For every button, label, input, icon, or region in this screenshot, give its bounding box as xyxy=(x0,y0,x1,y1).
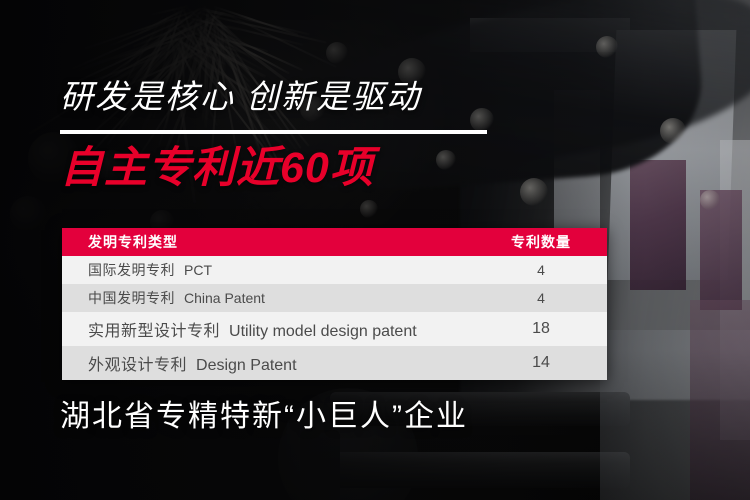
poster-content: 研发是核心 创新是驱动 自主专利近60项 发明专利类型 专利数量 国际发明专利P… xyxy=(0,0,750,500)
page-footer-text: 湖北省专精特新“小巨人”企业 xyxy=(60,402,468,432)
cell-patent-type-en: Utility model design patent xyxy=(229,323,417,340)
cell-patent-type-cn: 国际发明专利 xyxy=(88,262,175,278)
table-row: 实用新型设计专利Utility model design patent18 xyxy=(62,312,607,346)
cell-patent-type-en: Design Patent xyxy=(196,357,297,374)
cell-patent-type-cn: 中国发明专利 xyxy=(88,290,175,306)
page-subheadline: 自主专利近60项 xyxy=(60,147,374,190)
cell-patent-type-cn: 实用新型设计专利 xyxy=(88,323,220,340)
cell-patent-type-en: China Patent xyxy=(184,290,265,306)
page-headline: 研发是核心 创新是驱动 xyxy=(60,80,421,113)
table-row: 外观设计专利Design Patent14 xyxy=(62,346,607,380)
table-header-row: 发明专利类型 专利数量 xyxy=(62,228,607,256)
column-header-count: 专利数量 xyxy=(475,232,607,252)
cell-patent-type-cn: 外观设计专利 xyxy=(88,357,187,374)
cell-patent-count: 14 xyxy=(475,354,607,372)
table-body: 国际发明专利PCT4中国发明专利China Patent4实用新型设计专利Uti… xyxy=(62,256,607,380)
column-header-type: 发明专利类型 xyxy=(62,232,178,252)
cell-patent-type: 外观设计专利Design Patent xyxy=(62,351,297,375)
patent-table: 发明专利类型 专利数量 国际发明专利PCT4中国发明专利China Patent… xyxy=(62,228,607,380)
headline-divider xyxy=(60,130,487,134)
cell-patent-type: 国际发明专利PCT xyxy=(62,260,212,280)
table-row: 国际发明专利PCT4 xyxy=(62,256,607,284)
cell-patent-count: 4 xyxy=(475,262,607,278)
table-row: 中国发明专利China Patent4 xyxy=(62,284,607,312)
cell-patent-type-en: PCT xyxy=(184,262,212,278)
cell-patent-count: 4 xyxy=(475,290,607,306)
cell-patent-count: 18 xyxy=(475,320,607,338)
cell-patent-type: 实用新型设计专利Utility model design patent xyxy=(62,317,417,341)
cell-patent-type: 中国发明专利China Patent xyxy=(62,288,265,308)
promotional-poster: 研发是核心 创新是驱动 自主专利近60项 发明专利类型 专利数量 国际发明专利P… xyxy=(0,0,750,500)
